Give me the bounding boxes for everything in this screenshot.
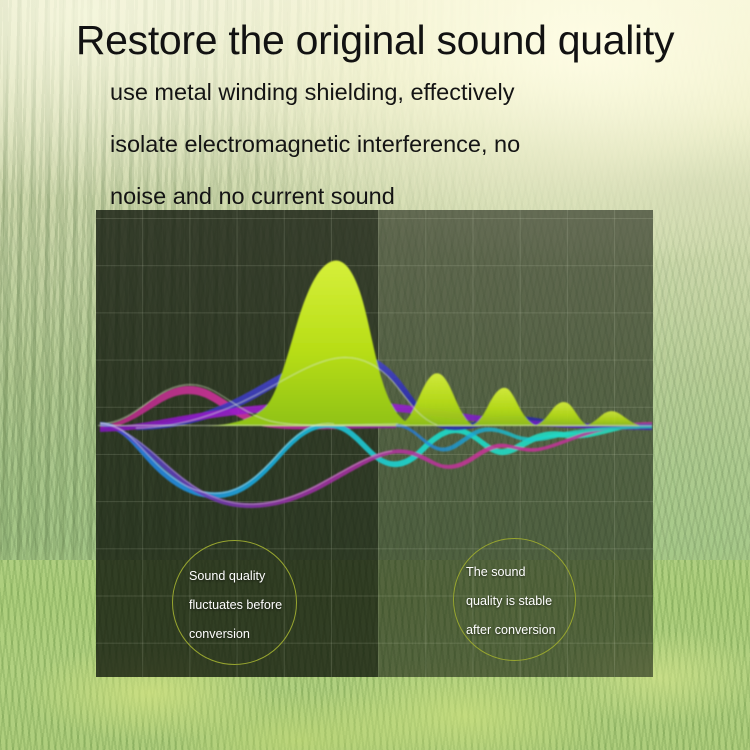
caption-after-line-3: after conversion [466,616,556,645]
caption-after-line-2: quality is stable [466,587,556,616]
wave-yellow-ripple-1 [394,373,474,426]
caption-before-line-2: fluctuates before [189,591,282,620]
subtitle-block: use metal winding shielding, effectively… [110,66,520,222]
wave-outline-magenta-lower [100,423,392,504]
waveform-panel: Sound quality fluctuates before conversi… [96,210,653,677]
page-title: Restore the original sound quality [76,18,674,62]
subtitle-line-1: use metal winding shielding, effectively [110,66,520,118]
caption-after-conversion: The sound quality is stable after conver… [466,558,556,645]
caption-before-line-1: Sound quality [189,562,282,591]
caption-before-conversion: Sound quality fluctuates before conversi… [189,562,282,649]
promo-banner: Restore the original sound quality use m… [0,0,750,750]
subtitle-line-2: isolate electromagnetic interference, no [110,118,520,170]
caption-after-line-1: The sound [466,558,556,587]
caption-before-line-3: conversion [189,620,282,649]
